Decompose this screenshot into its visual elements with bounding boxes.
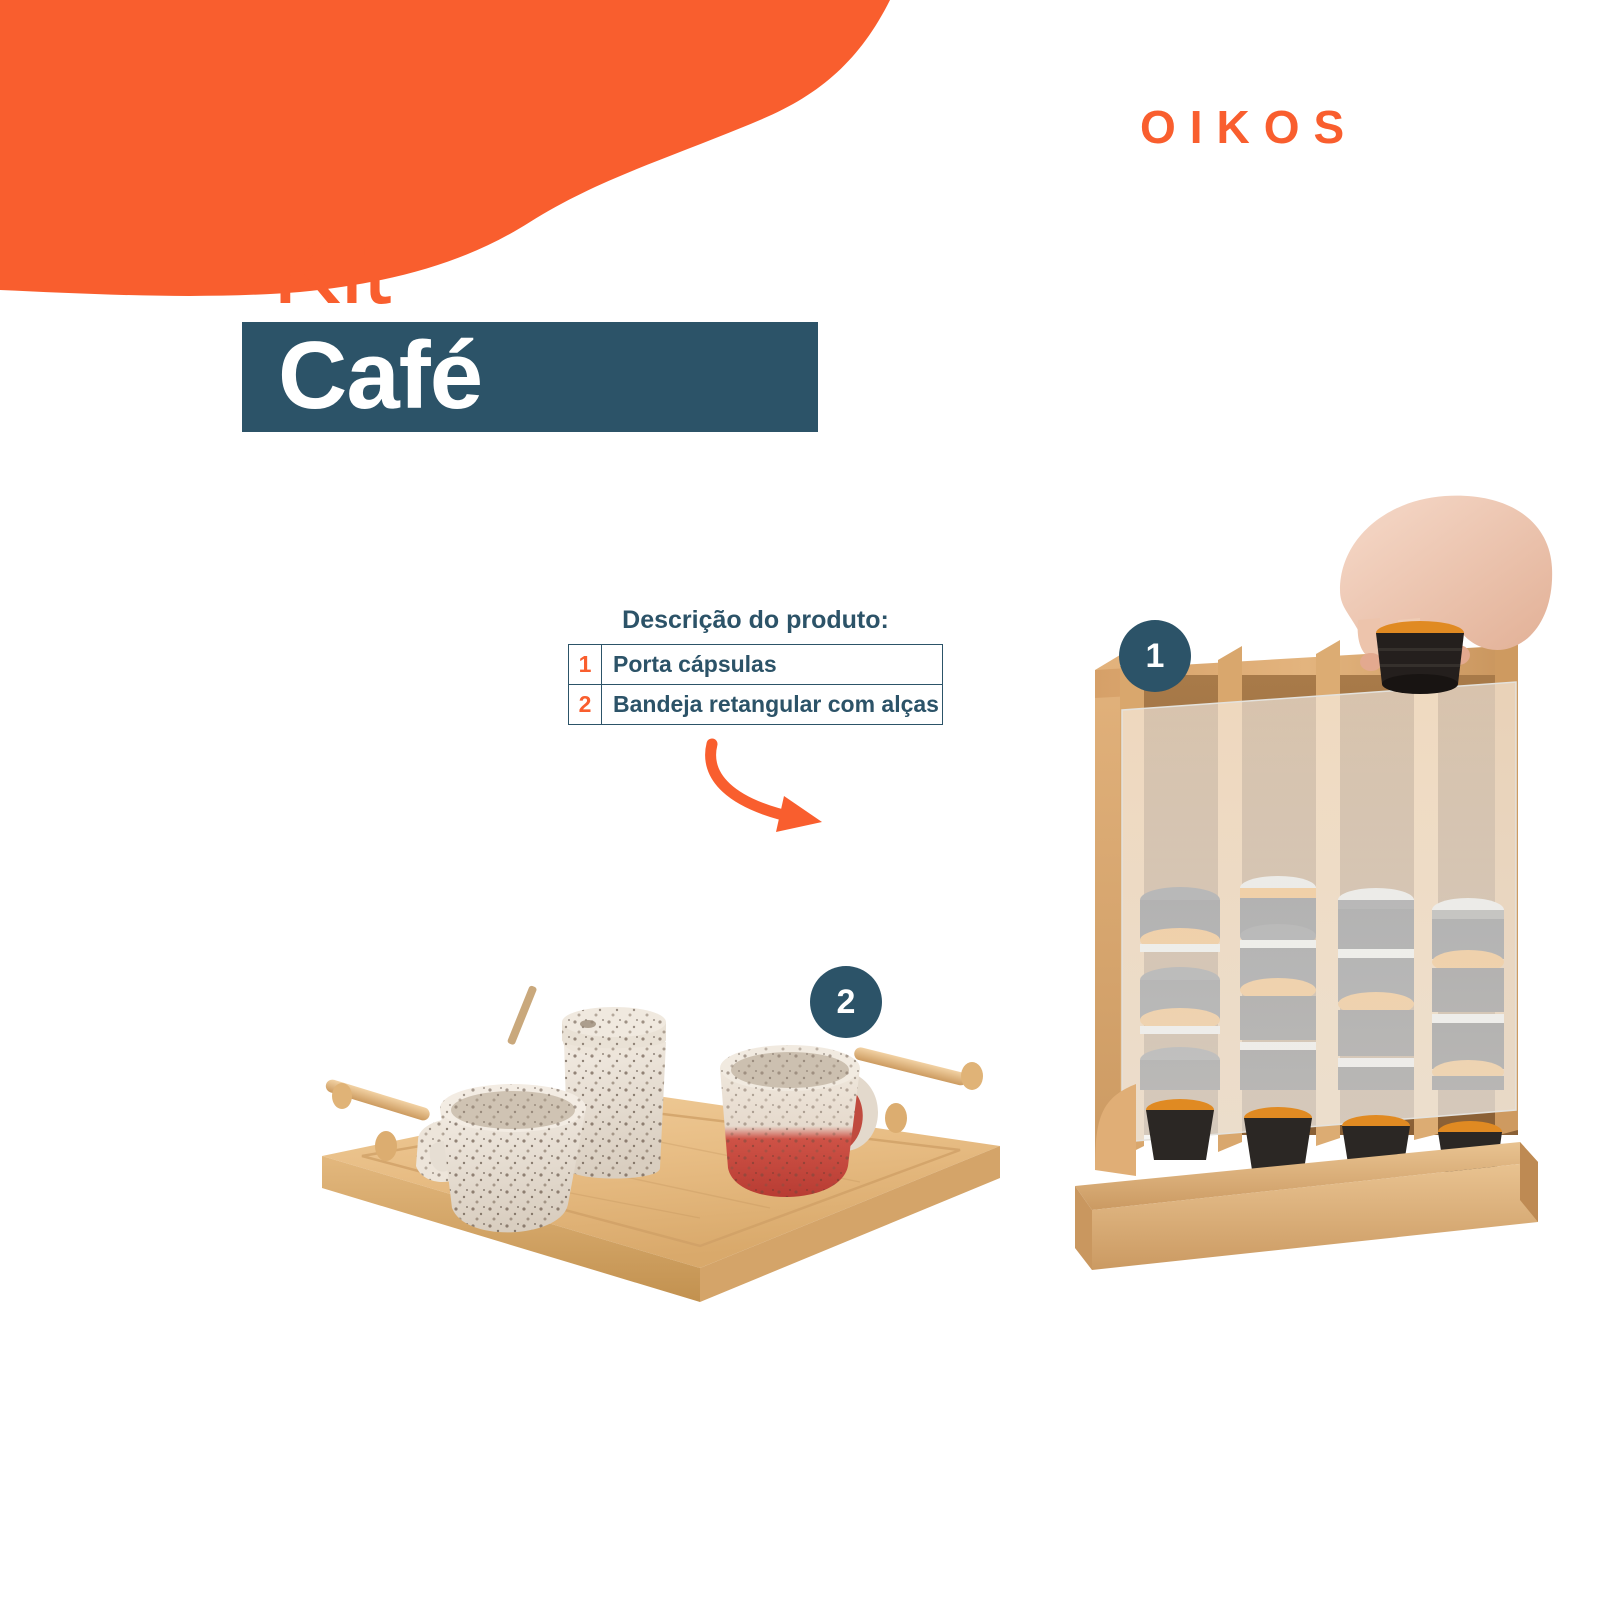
row-number: 2	[569, 685, 602, 725]
callout-badge-2: 2	[810, 966, 882, 1038]
row-label: Bandeja retangular com alças	[602, 685, 943, 725]
tray-set-photo	[300, 950, 1040, 1330]
hand-placing-capsule	[1340, 496, 1552, 694]
orange-wave-decoration	[0, 0, 900, 300]
headline-kit: Kit	[272, 216, 390, 320]
capsule-dispenser-photo	[1040, 470, 1560, 1280]
spoon	[507, 985, 538, 1045]
poster-canvas: OIKOS Kit Café Descrição do produto: 1 P…	[0, 0, 1600, 1600]
row-number: 1	[569, 645, 602, 685]
description-table: 1 Porta cápsulas 2 Bandeja retangular co…	[568, 644, 943, 725]
brand-logo: OIKOS	[1140, 100, 1358, 154]
table-row: 2 Bandeja retangular com alças	[569, 685, 943, 725]
callout-badge-1: 1	[1119, 620, 1191, 692]
headline-cafe: Café	[278, 326, 482, 427]
held-capsule	[1376, 621, 1464, 694]
row-label: Porta cápsulas	[602, 645, 943, 685]
table-row: 1 Porta cápsulas	[569, 645, 943, 685]
description-title: Descrição do produto:	[568, 606, 943, 635]
curved-arrow-icon	[690, 728, 850, 838]
acrylic-front-panel	[1122, 682, 1516, 1142]
dispenser-body	[1075, 630, 1538, 1270]
